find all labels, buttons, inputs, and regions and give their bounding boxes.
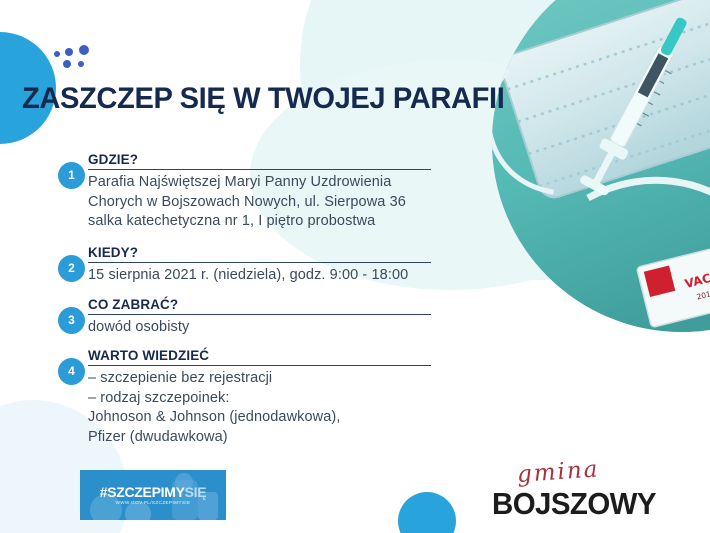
item-line: Johnoson & Johnson (jednodawkowa), [88,408,508,428]
item-lines: dowód osobisty [88,318,508,338]
dot-icon [63,60,71,68]
item-heading: GDZIE? [88,152,431,170]
item-body: WARTO WIEDZIEĆ – szczepienie bez rejestr… [88,348,508,447]
page-title: ZASZCZEP SIĘ W TWOJEJ PARAFII [22,82,504,116]
item-line: – szczepienie bez rejestracji [88,369,508,389]
item-line: Parafia Najświętszej Maryi Panny Uzdrowi… [88,173,508,193]
banner-hashtag-accent: SIĘ [185,484,207,500]
logo-municipality-name: BOJSZOWY [492,486,656,522]
dot-icon [65,48,73,56]
item-body: CO ZABRAĆ? dowód osobisty [88,297,508,338]
item-number-badge: 3 [58,307,85,334]
banner-url: WWW.GOV.PL/SZCZEPIMYSIE [80,500,226,505]
item-lines: – szczepienie bez rejestracji – rodzaj s… [88,369,508,447]
item-body: GDZIE? Parafia Najświętszej Maryi Panny … [88,152,508,232]
item-line: dowód osobisty [88,318,508,338]
vaccination-poster: COVID-19 2019-nCoV vaccine COVID-19 2019… [0,0,710,533]
dots-decoration-icon [54,44,96,70]
item-heading: KIEDY? [88,245,431,263]
item-number-badge: 4 [58,358,85,385]
item-heading: WARTO WIEDZIEĆ [88,348,431,366]
item-line: 15 sierpnia 2021 r. (niedziela), godz. 9… [88,266,508,286]
item-number-badge: 2 [58,255,85,282]
item-heading: CO ZABRAĆ? [88,297,431,315]
logo-script-word: gmina [516,456,600,488]
decorative-blue-circle-bottom [398,492,456,533]
dot-icon [54,51,60,57]
banner-hashtag-main: #SZCZEPIMY [100,484,185,500]
gmina-bojszowy-logo: gmina BOJSZOWY [492,462,642,522]
banner-hashtag: #SZCZEPIMYSIĘ [80,484,226,500]
item-line: salka katechetyczna nr 1, I piętro probo… [88,212,508,232]
item-line: Pfizer (dwudawkowa) [88,428,508,448]
item-number-badge: 1 [58,162,85,189]
dot-icon [79,45,89,55]
item-body: KIEDY? 15 sierpnia 2021 r. (niedziela), … [88,245,508,286]
item-line: – rodzaj szczepoinek: [88,389,508,409]
item-line: Chorych w Bojszowach Nowych, ul. Sierpow… [88,193,508,213]
vaccine-photo: COVID-19 2019-nCoV vaccine COVID-19 2019… [492,0,710,332]
szczepimy-sie-campaign-banner: #SZCZEPIMYSIĘ WWW.GOV.PL/SZCZEPIMYSIE [80,470,226,520]
item-lines: Parafia Najświętszej Maryi Panny Uzdrowi… [88,173,508,232]
item-lines: 15 sierpnia 2021 r. (niedziela), godz. 9… [88,266,508,286]
dot-icon [78,61,84,67]
